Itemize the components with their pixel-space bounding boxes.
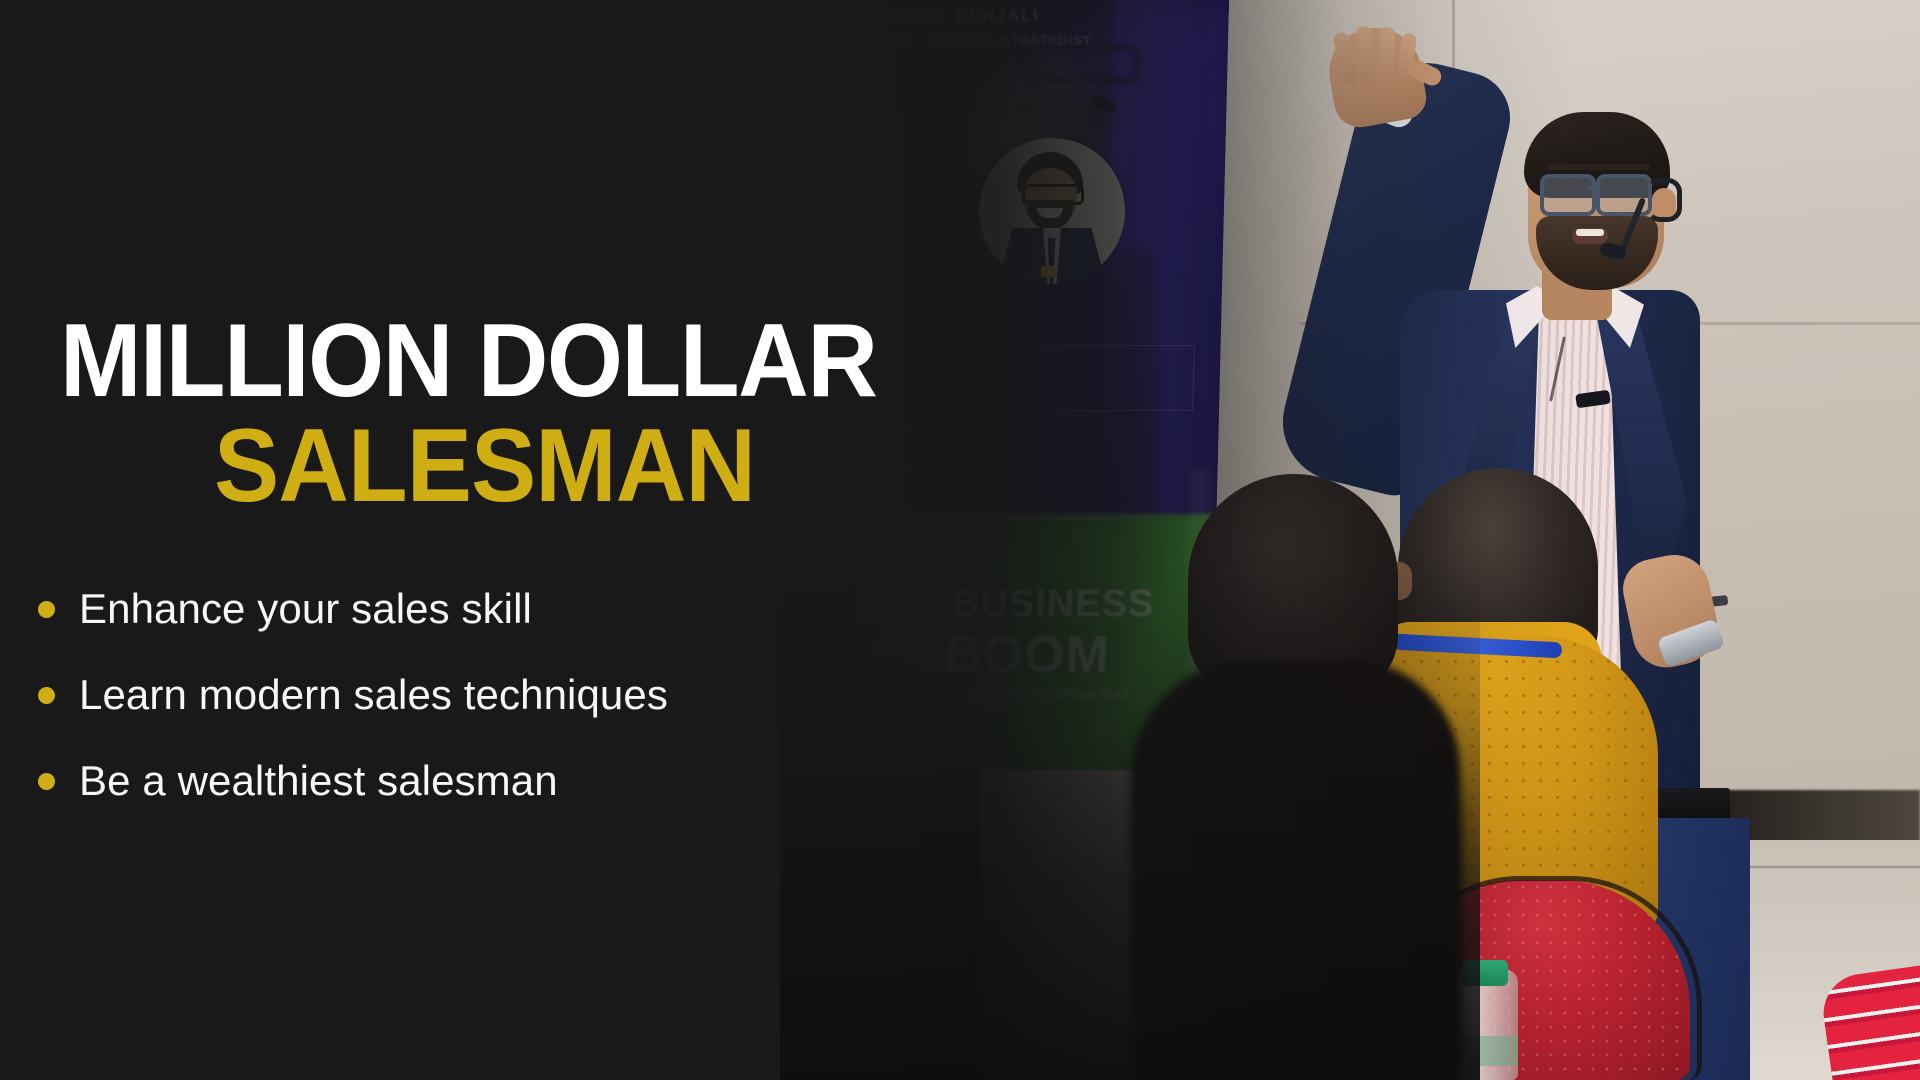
water-bottle-cap <box>1462 960 1508 986</box>
bullet-dot-icon <box>38 773 55 790</box>
list-item: Be a wealthiest salesman <box>38 757 668 805</box>
benefits-list: Enhance your sales skill Learn modern sa… <box>38 585 668 843</box>
list-item-label: Be a wealthiest salesman <box>79 757 558 805</box>
water-bottle-label <box>1452 1036 1518 1066</box>
slide-text-content: MILLION DOLLAR SALESMAN Enhance your sal… <box>0 0 1000 1080</box>
speaker-teeth <box>1576 229 1604 236</box>
speaker-eyebrow <box>1546 164 1650 170</box>
list-item-label: Learn modern sales techniques <box>79 671 668 719</box>
banner-tagline: business Grow fast <box>980 686 1128 704</box>
headline-line-accent: SALESMAN <box>214 417 915 516</box>
list-item: Learn modern sales techniques <box>38 671 668 719</box>
headline-line-primary: MILLION DOLLAR <box>60 312 906 411</box>
speaker-eyeglasses-bridge <box>1588 186 1600 190</box>
list-item-label: Enhance your sales skill <box>79 585 532 633</box>
speaker-eyeglasses-lens-left <box>1540 174 1596 216</box>
speaker-eyeglasses-lens-right <box>1596 174 1652 216</box>
headset-mic-earloop-icon <box>1646 178 1682 222</box>
list-item: Enhance your sales skill <box>38 585 668 633</box>
banner-circular-headshot <box>979 138 1125 284</box>
bullet-dot-icon <box>38 687 55 704</box>
bullet-dot-icon <box>38 601 55 618</box>
headshot-badge <box>1041 266 1057 277</box>
audience-member-body <box>1130 660 1460 1080</box>
speaker-finger <box>1379 27 1396 83</box>
headline-block: MILLION DOLLAR SALESMAN <box>60 312 960 516</box>
promo-slide: CASAC BENJALI ESS COACH | SUCCESS STRATE… <box>0 0 1920 1080</box>
banner-portrait-glasses-icon <box>1020 45 1140 83</box>
